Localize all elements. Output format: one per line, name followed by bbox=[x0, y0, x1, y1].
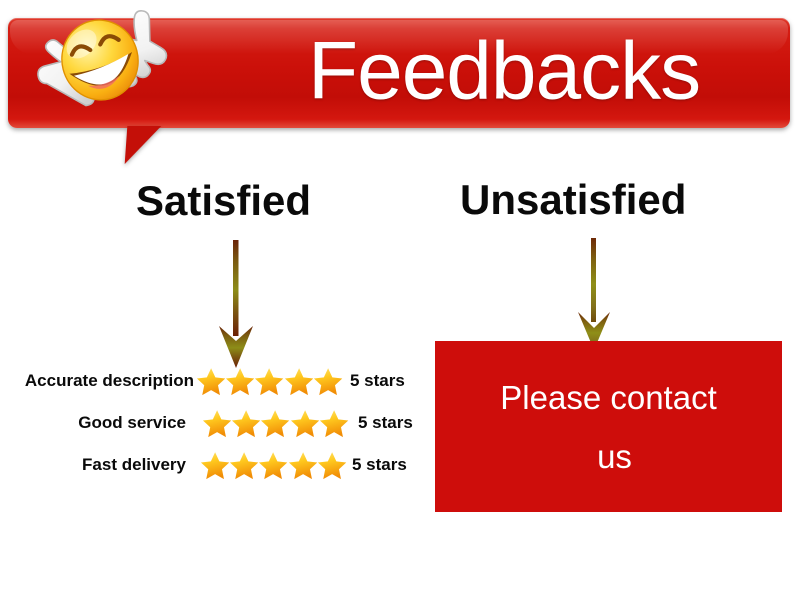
rating-value: 5 stars bbox=[342, 371, 405, 391]
rating-label: Good service bbox=[0, 413, 188, 433]
star-icon bbox=[260, 408, 290, 439]
rating-row: Good service 5 stars bbox=[0, 402, 430, 444]
star-icon bbox=[290, 408, 320, 439]
satisfied-heading: Satisfied bbox=[136, 180, 311, 222]
down-arrow-icon-unsatisfied bbox=[570, 238, 618, 350]
contact-line-1: Please contact bbox=[500, 381, 716, 414]
rating-label: Fast delivery bbox=[0, 455, 188, 475]
star-icon bbox=[229, 450, 259, 481]
star-rating bbox=[200, 450, 346, 481]
rating-list: Accurate description 5 stars Good servic… bbox=[0, 360, 430, 486]
star-icon bbox=[313, 366, 343, 397]
star-icon bbox=[202, 408, 232, 439]
star-rating bbox=[202, 408, 348, 439]
star-icon bbox=[254, 366, 284, 397]
star-icon bbox=[196, 366, 226, 397]
star-icon bbox=[200, 450, 230, 481]
rating-value: 5 stars bbox=[348, 413, 413, 433]
contact-line-2: us bbox=[597, 440, 632, 473]
feedback-graphic: Feedbacks bbox=[0, 0, 800, 600]
star-rating bbox=[196, 366, 342, 397]
star-icon bbox=[258, 450, 288, 481]
smiley-thumbs-up-icon bbox=[26, 6, 176, 138]
star-icon bbox=[284, 366, 314, 397]
down-arrow-icon-satisfied bbox=[212, 240, 260, 368]
rating-label: Accurate description bbox=[0, 371, 196, 391]
star-icon bbox=[231, 408, 261, 439]
rating-row: Accurate description 5 stars bbox=[0, 360, 430, 402]
unsatisfied-heading: Unsatisfied bbox=[460, 179, 686, 221]
star-icon bbox=[317, 450, 347, 481]
star-icon bbox=[319, 408, 349, 439]
star-icon bbox=[225, 366, 255, 397]
rating-value: 5 stars bbox=[346, 455, 407, 475]
contact-us-box[interactable]: Please contact us bbox=[435, 341, 782, 512]
star-icon bbox=[288, 450, 318, 481]
rating-row: Fast delivery 5 stars bbox=[0, 444, 430, 486]
page-title: Feedbacks bbox=[308, 30, 700, 112]
